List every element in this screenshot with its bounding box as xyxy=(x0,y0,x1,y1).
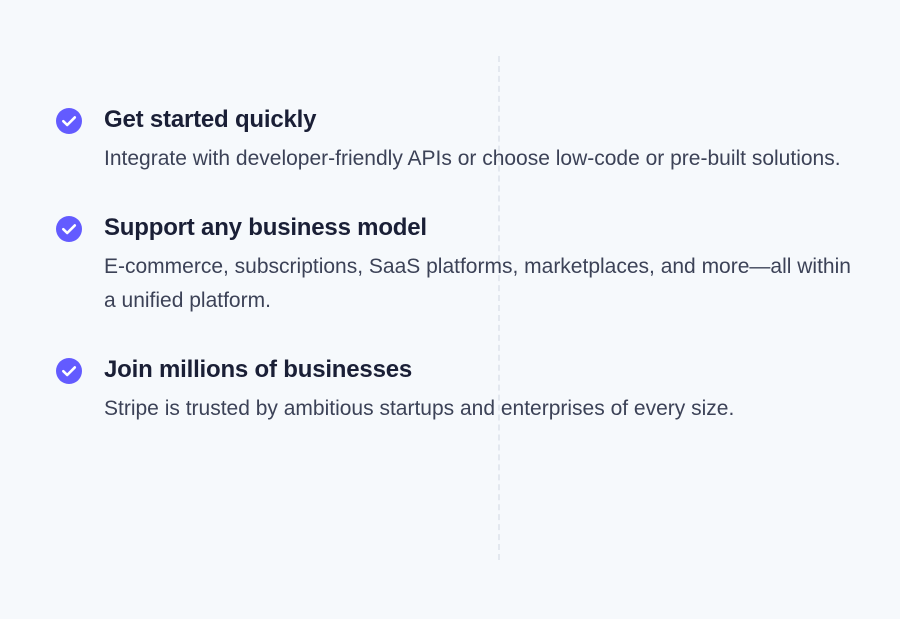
feature-title: Support any business model xyxy=(104,212,856,244)
feature-item: Join millions of businesses Stripe is tr… xyxy=(56,354,856,426)
feature-item: Get started quickly Integrate with devel… xyxy=(56,104,856,176)
check-circle-icon xyxy=(56,108,82,134)
feature-description: Integrate with developer-friendly APIs o… xyxy=(104,142,856,176)
feature-title: Join millions of businesses xyxy=(104,354,856,386)
feature-list: Get started quickly Integrate with devel… xyxy=(56,104,856,426)
feature-description: Stripe is trusted by ambitious startups … xyxy=(104,392,856,426)
feature-item: Support any business model E-commerce, s… xyxy=(56,212,856,318)
check-circle-icon xyxy=(56,216,82,242)
feature-description: E-commerce, subscriptions, SaaS platform… xyxy=(104,250,856,318)
feature-panel: Get started quickly Integrate with devel… xyxy=(0,0,900,619)
feature-title: Get started quickly xyxy=(104,104,856,136)
check-circle-icon xyxy=(56,358,82,384)
